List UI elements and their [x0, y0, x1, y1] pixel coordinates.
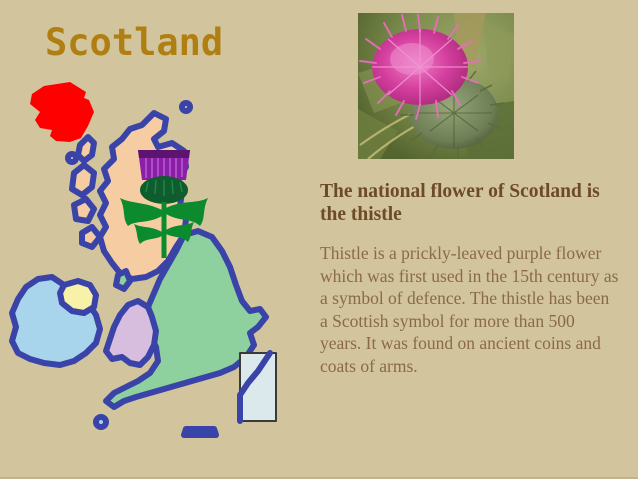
thistle-photograph — [358, 13, 514, 159]
region-isle-of-man — [116, 271, 130, 289]
page-title: Scotland — [45, 24, 223, 61]
island-dot-outer — [68, 154, 76, 162]
region-northern-ireland — [60, 281, 96, 313]
content-paragraph: Thistle is a prickly-leaved purple flowe… — [320, 242, 620, 377]
content-heading: The national flower of Scotland is the t… — [320, 180, 620, 226]
island-dot-scilly — [96, 417, 106, 427]
island-dot-shetland — [182, 103, 190, 111]
region-wales — [106, 301, 156, 365]
text-column: The national flower of Scotland is the t… — [320, 180, 620, 377]
thistle-clipart — [112, 146, 216, 262]
island-bar — [184, 429, 216, 435]
slide-canvas: Scotland — [0, 0, 638, 479]
